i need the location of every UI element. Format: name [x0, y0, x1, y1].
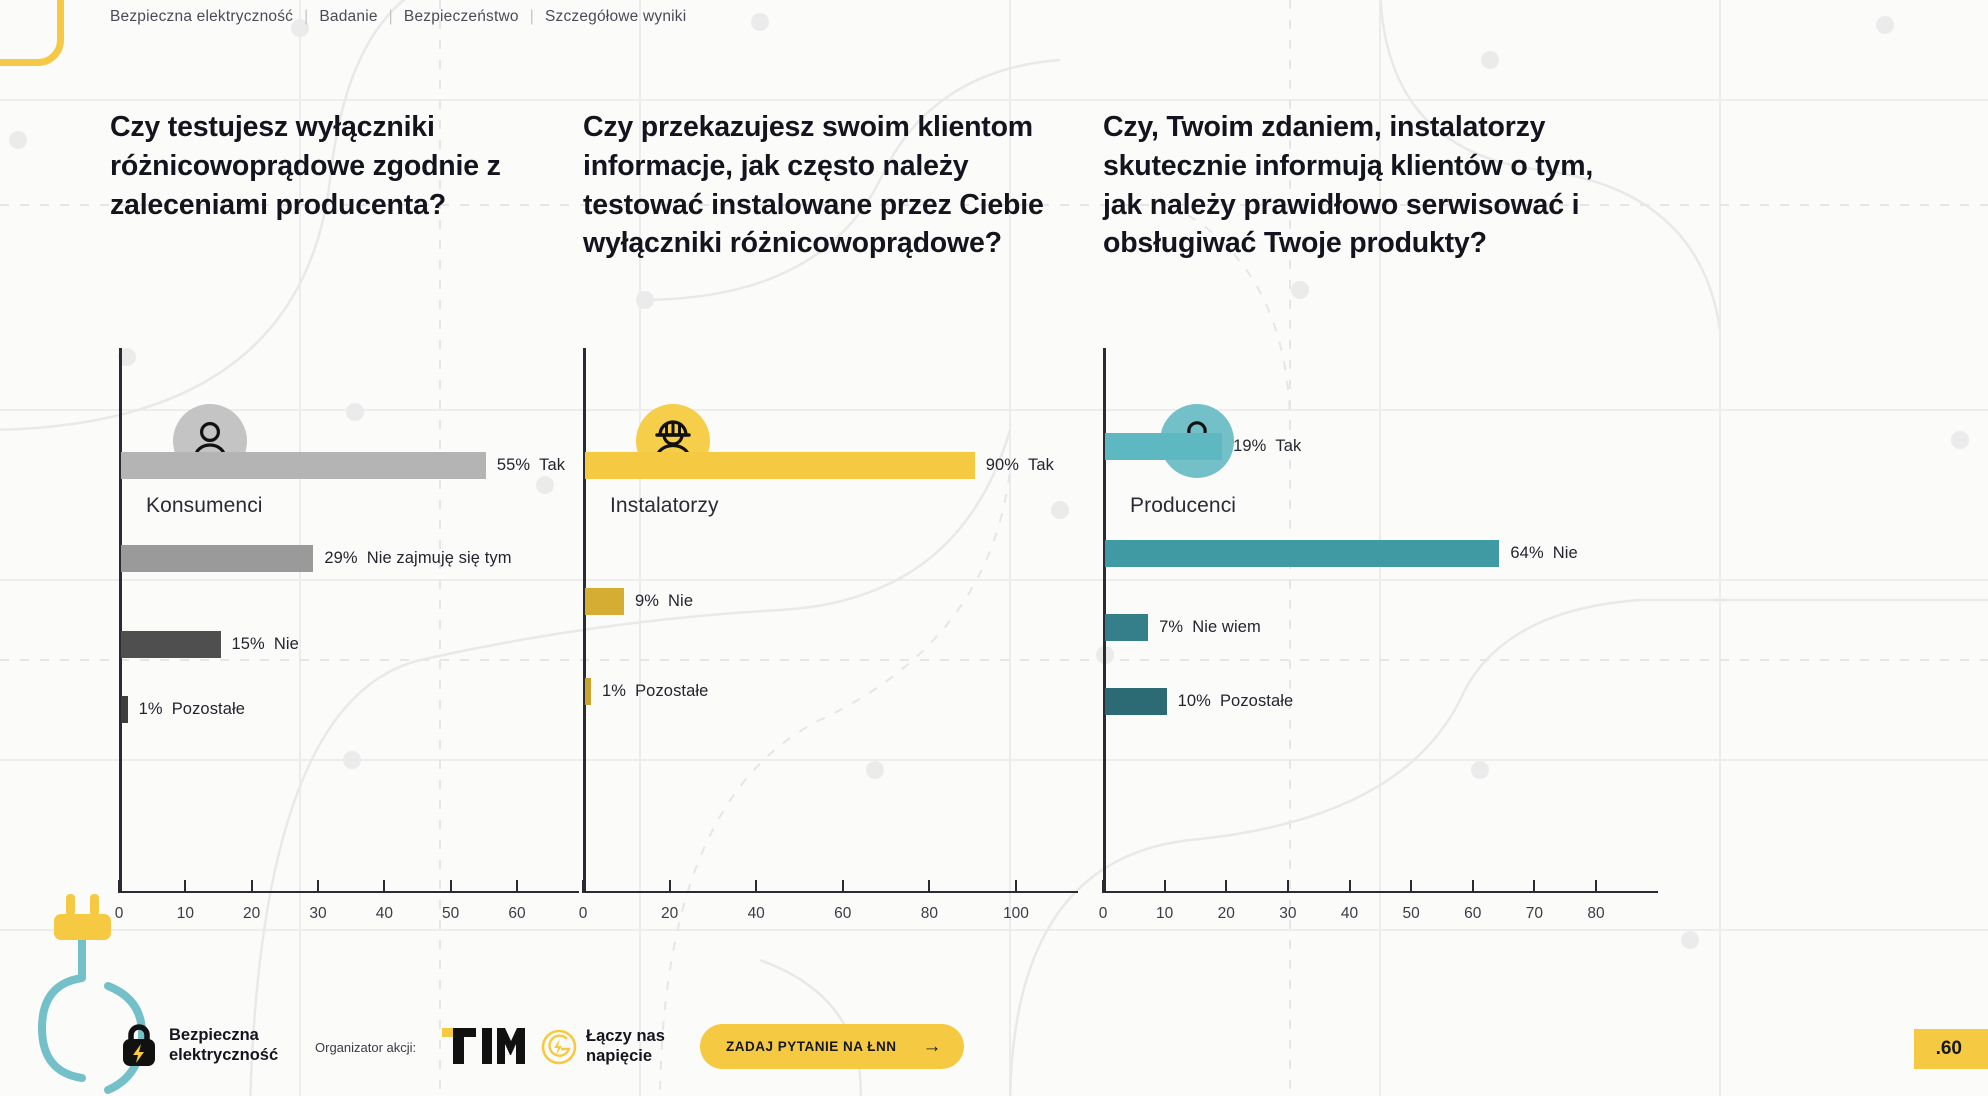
x-axis-tick — [184, 880, 186, 893]
bar-category: Nie — [668, 592, 693, 610]
chart-panel-instalatorzy: Czy przekazujesz swoim klientom informac… — [583, 0, 1088, 1096]
bar-tak — [121, 452, 486, 479]
bar-category: Nie — [274, 635, 299, 653]
x-axis-tick — [1595, 880, 1597, 893]
x-axis-tick — [251, 880, 253, 893]
bar-category: Nie wiem — [1192, 618, 1261, 636]
bar-row: 1%Pozostałe — [121, 696, 245, 723]
breadcrumb-item-1[interactable]: Badanie — [319, 8, 377, 26]
x-axis-tick — [669, 880, 671, 893]
x-axis-tick-label: 10 — [1156, 905, 1173, 923]
bar-value: 1% — [602, 682, 626, 700]
bar-row: 7%Nie wiem — [1105, 614, 1261, 641]
x-axis-tick-label: 60 — [508, 905, 525, 923]
x-axis-tick — [383, 880, 385, 893]
bar-value: 29% — [324, 549, 357, 567]
x-axis-tick-label: 100 — [1003, 905, 1029, 923]
x-axis-tick — [450, 880, 452, 893]
bar-row: 64%Nie — [1105, 540, 1578, 567]
x-axis-tick — [1349, 880, 1351, 893]
chart-panel-producenci: Czy, Twoim zdaniem, instalatorzy skutecz… — [1103, 0, 1663, 1096]
x-axis-1 — [583, 891, 1078, 894]
x-axis-tick — [1472, 880, 1474, 893]
bar-label: 15%Nie — [232, 635, 299, 654]
x-axis-tick-label: 50 — [1403, 905, 1420, 923]
x-axis-tick — [1225, 880, 1227, 893]
question-title-2: Czy, Twoim zdaniem, instalatorzy skutecz… — [1103, 108, 1603, 263]
x-axis-tick — [1102, 880, 1104, 893]
x-axis-tick — [582, 880, 584, 893]
x-axis-tick-label: 70 — [1526, 905, 1543, 923]
question-title-0: Czy testujesz wyłączniki różnicowoprądow… — [110, 108, 540, 224]
x-axis-tick — [1015, 880, 1017, 893]
brand-line-1: Bezpieczna — [169, 1025, 278, 1045]
x-axis-tick-label: 20 — [661, 905, 678, 923]
x-axis-tick — [1410, 880, 1412, 893]
ask-question-button[interactable]: ZADAJ PYTANIE NA ŁNN → — [700, 1024, 964, 1069]
bar-row: 19%Tak — [1105, 433, 1301, 460]
x-axis-tick — [1533, 880, 1535, 893]
breadcrumb-item-0[interactable]: Bezpieczna elektryczność — [110, 8, 293, 26]
plot-area-2: 19%Tak64%Nie7%Nie wiem10%Pozostałe010203… — [1103, 348, 1658, 893]
cta-label: ZADAJ PYTANIE NA ŁNN — [726, 1039, 897, 1054]
bar-pozosta-e — [585, 678, 591, 705]
bar-row: 15%Nie — [121, 631, 299, 658]
x-axis-tick — [928, 880, 930, 893]
bar-value: 19% — [1233, 437, 1266, 455]
footer: Bezpieczna elektryczność Organizator akc… — [0, 986, 1988, 1096]
x-axis-tick — [317, 880, 319, 893]
bar-category: Pozostałe — [1220, 692, 1293, 710]
x-axis-tick-label: 80 — [1587, 905, 1604, 923]
x-axis-tick-label: 50 — [442, 905, 459, 923]
bar-nie-wiem — [1105, 614, 1148, 641]
bar-tak — [585, 452, 975, 479]
x-axis-tick — [516, 880, 518, 893]
x-axis-tick — [1164, 880, 1166, 893]
x-axis-2 — [1103, 891, 1658, 894]
x-axis-tick-label: 20 — [1218, 905, 1235, 923]
bar-value: 9% — [635, 592, 659, 610]
breadcrumb-separator: | — [304, 8, 308, 26]
bar-category: Nie — [1553, 544, 1578, 562]
bar-label: 9%Nie — [635, 592, 693, 611]
bar-pozosta-e — [121, 696, 128, 723]
question-title-1: Czy przekazujesz swoim klientom informac… — [583, 108, 1053, 263]
bar-value: 64% — [1510, 544, 1543, 562]
x-axis-tick-label: 10 — [177, 905, 194, 923]
bar-label: 1%Pozostałe — [602, 682, 708, 701]
bar-category: Pozostałe — [635, 682, 708, 700]
x-axis-tick-label: 40 — [376, 905, 393, 923]
x-axis-tick-label: 30 — [1279, 905, 1296, 923]
bar-value: 10% — [1178, 692, 1211, 710]
x-axis-tick-label: 30 — [309, 905, 326, 923]
bar-category: Tak — [1028, 456, 1054, 474]
padlock-bolt-icon — [120, 1022, 158, 1068]
bar-category: Pozostałe — [172, 700, 245, 718]
brand-bezpieczna-elektrycznosc: Bezpieczna elektryczność — [120, 1022, 278, 1068]
bar-label: 7%Nie wiem — [1159, 618, 1261, 637]
bar-value: 15% — [232, 635, 265, 653]
bar-value: 90% — [986, 456, 1019, 474]
x-axis-tick-label: 20 — [243, 905, 260, 923]
bar-value: 55% — [497, 456, 530, 474]
bar-row: 1%Pozostałe — [585, 678, 708, 705]
lnn-line-1: Łączy nas — [586, 1027, 665, 1046]
arrow-right-icon: → — [923, 1036, 943, 1058]
bar-tak — [1105, 433, 1222, 460]
bar-label: 19%Tak — [1233, 437, 1301, 456]
brand-line-2: elektryczność — [169, 1045, 278, 1065]
tim-logo[interactable] — [440, 1026, 526, 1066]
bar-label: 10%Pozostałe — [1178, 692, 1294, 711]
bar-nie — [585, 588, 624, 615]
bar-row: 29%Nie zajmuję się tym — [121, 545, 512, 572]
x-axis-tick — [755, 880, 757, 893]
bar-value: 7% — [1159, 618, 1183, 636]
bar-nie — [121, 631, 221, 658]
plot-area-0: 55%Tak29%Nie zajmuję się tym15%Nie1%Pozo… — [119, 348, 579, 893]
bar-category: Tak — [539, 456, 565, 474]
bar-row: 90%Tak — [585, 452, 1054, 479]
x-axis-tick-label: 40 — [748, 905, 765, 923]
breadcrumb-separator: | — [530, 8, 534, 26]
breadcrumb-item-3[interactable]: Szczegółowe wyniki — [545, 8, 686, 26]
plot-area-1: 90%Tak9%Nie1%Pozostałe020406080100 — [583, 348, 1078, 893]
y-axis-1 — [583, 348, 586, 893]
x-axis-tick — [1287, 880, 1289, 893]
bar-label: 55%Tak — [497, 456, 565, 475]
x-axis-tick-label: 60 — [1464, 905, 1481, 923]
bar-label: 64%Nie — [1510, 544, 1577, 563]
lnn-line-2: napięcie — [586, 1047, 665, 1066]
breadcrumb-separator: | — [389, 8, 393, 26]
page-number-badge: .60 — [1914, 1029, 1988, 1069]
bar-label: 29%Nie zajmuję się tym — [324, 549, 511, 568]
x-axis-tick — [842, 880, 844, 893]
x-axis-0 — [119, 891, 579, 894]
bar-label: 1%Pozostałe — [139, 700, 245, 719]
bar-row: 10%Pozostałe — [1105, 688, 1293, 715]
y-axis-0 — [119, 348, 122, 893]
bar-nie-zajmuj-si-tym — [121, 545, 313, 572]
bar-category: Nie zajmuję się tym — [367, 549, 512, 567]
bar-row: 9%Nie — [585, 588, 693, 615]
charts-container: Czy testujesz wyłączniki różnicowoprądow… — [0, 0, 1988, 1096]
bar-category: Tak — [1275, 437, 1301, 455]
x-axis-tick-label: 80 — [921, 905, 938, 923]
breadcrumb-item-2[interactable]: Bezpieczeństwo — [404, 8, 519, 26]
breadcrumb: Bezpieczna elektryczność | Badanie | Bez… — [110, 8, 686, 26]
x-axis-tick-label: 0 — [1099, 905, 1108, 923]
bar-nie — [1105, 540, 1499, 567]
chart-panel-konsumenci: Czy testujesz wyłączniki różnicowoprądow… — [110, 0, 580, 1096]
bar-label: 90%Tak — [986, 456, 1054, 475]
lnn-emblem-icon — [540, 1028, 578, 1066]
laczy-nas-napiecie-logo[interactable]: Łączy nas napięcie — [540, 1027, 665, 1066]
x-axis-tick-label: 60 — [834, 905, 851, 923]
x-axis-tick-label: 40 — [1341, 905, 1358, 923]
bar-value: 1% — [139, 700, 163, 718]
bar-row: 55%Tak — [121, 452, 565, 479]
organizer-label: Organizator akcji: — [315, 1040, 416, 1055]
bar-pozosta-e — [1105, 688, 1167, 715]
x-axis-tick-label: 0 — [579, 905, 588, 923]
